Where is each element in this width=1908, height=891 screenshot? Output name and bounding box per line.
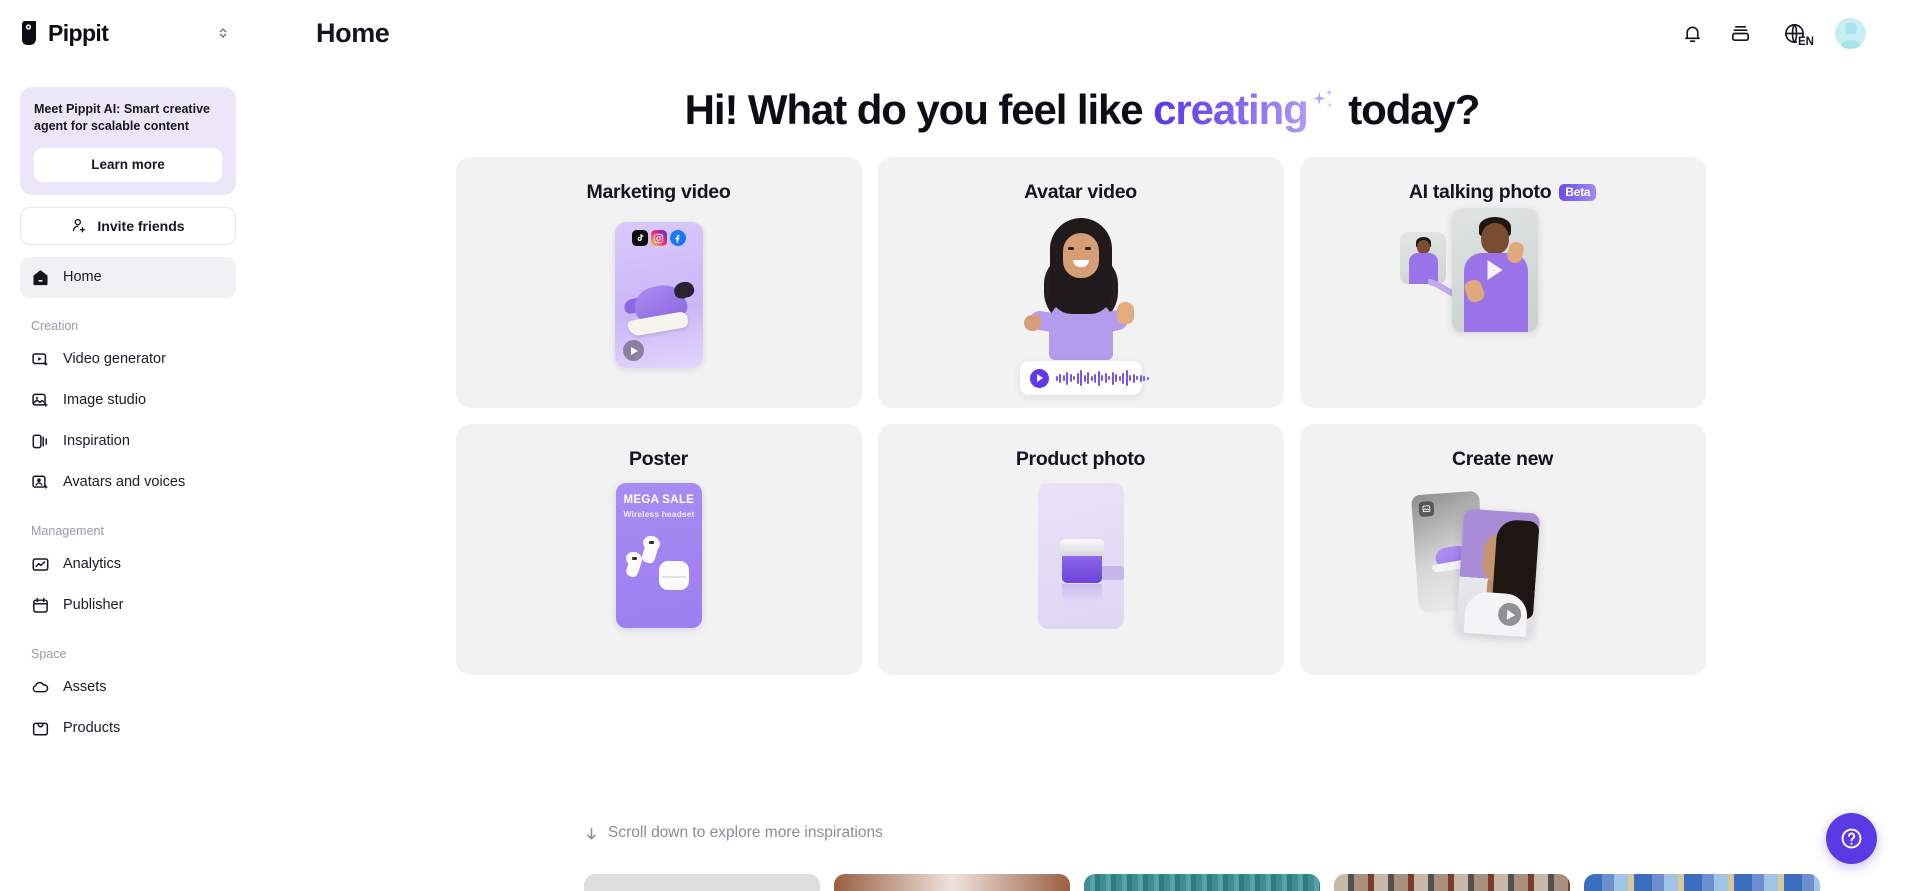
result-video	[1452, 208, 1538, 332]
sidebar-nav: Home Creation Video generator	[20, 257, 236, 749]
presenter-image	[1022, 214, 1140, 364]
product-photo-art	[878, 471, 1284, 675]
card-ai-talking-photo[interactable]: AI talking photo Beta	[1300, 157, 1706, 408]
card-product-photo[interactable]: Product photo	[878, 424, 1284, 675]
card-title-label: Create new	[1452, 448, 1553, 471]
product-mock	[1038, 483, 1124, 629]
sidebar-item-label: Video generator	[63, 351, 166, 367]
cosmetic-jar	[1062, 555, 1102, 583]
nav-group-management: Management	[20, 524, 236, 538]
card-title: Poster	[629, 448, 688, 471]
sparkle-icon	[1312, 86, 1338, 124]
card-poster[interactable]: Poster MEGA SALE Wireless headset	[456, 424, 862, 675]
analytics-chart-icon	[31, 555, 50, 574]
sidebar-item-inspiration[interactable]: Inspiration	[20, 421, 236, 462]
sidebar-item-avatars-and-voices[interactable]: Avatars and voices	[20, 462, 236, 503]
instagram-icon	[651, 230, 667, 246]
pippit-logo-icon	[20, 21, 41, 46]
sidebar: Pippit Meet Pippit AI: Smart creative ag…	[0, 0, 256, 891]
home-icon	[31, 268, 50, 287]
scroll-hint-label: Scroll down to explore more inspirations	[608, 824, 883, 842]
bag-icon	[31, 719, 50, 738]
language-selector[interactable]: EN	[1775, 20, 1813, 46]
front-photo	[1455, 509, 1539, 638]
poster-art: MEGA SALE Wireless headset	[456, 471, 862, 675]
promo-card: Meet Pippit AI: Smart creative agent for…	[20, 87, 236, 195]
user-plus-icon	[71, 217, 88, 234]
sidebar-item-products[interactable]: Products	[20, 708, 236, 749]
help-button[interactable]	[1826, 813, 1877, 864]
main-content: Home	[256, 0, 1908, 891]
avatar[interactable]	[1835, 18, 1866, 49]
social-icons	[632, 230, 686, 246]
image-sparkle-icon	[31, 391, 50, 410]
source-photo	[1400, 232, 1446, 284]
card-stack-icon[interactable]	[1727, 20, 1753, 46]
sidebar-item-analytics[interactable]: Analytics	[20, 544, 236, 585]
card-title: Create new	[1452, 448, 1553, 471]
marketing-video-art	[456, 204, 862, 408]
promo-text: Meet Pippit AI: Smart creative agent for…	[34, 101, 222, 135]
image-icon	[1418, 501, 1434, 517]
poster-heading: MEGA SALE	[624, 494, 695, 506]
card-title: Marketing video	[587, 181, 731, 204]
sidebar-item-assets[interactable]: Assets	[20, 667, 236, 708]
sidebar-item-label: Publisher	[63, 597, 123, 613]
sidebar-item-publisher[interactable]: Publisher	[20, 585, 236, 626]
cloud-icon	[31, 678, 50, 697]
page-title: Home	[316, 18, 389, 49]
sidebar-item-label: Avatars and voices	[63, 474, 185, 490]
sidebar-item-image-studio[interactable]: Image studio	[20, 380, 236, 421]
avatar-sparkle-icon	[31, 473, 50, 492]
card-title-label: Marketing video	[587, 181, 731, 204]
poster-subheading: Wireless headset	[624, 509, 695, 519]
ai-talking-photo-art	[1300, 204, 1706, 408]
avatar-video-art	[878, 204, 1284, 408]
phone-mock	[615, 222, 703, 368]
audio-player[interactable]	[1020, 361, 1142, 395]
video-sparkle-icon	[31, 350, 50, 369]
card-title-label: Avatar video	[1024, 181, 1137, 204]
card-create-new[interactable]: Create new	[1300, 424, 1706, 675]
sneaker-image	[622, 280, 696, 338]
create-options-grid: Marketing video	[456, 157, 1709, 675]
nav-group-space: Space	[20, 647, 236, 661]
calendar-icon	[31, 596, 50, 615]
thumbnail-item[interactable]	[834, 874, 1070, 891]
chevron-up-down-icon[interactable]	[210, 20, 236, 46]
facebook-icon	[670, 230, 686, 246]
thumbnail-item[interactable]	[1584, 874, 1820, 891]
inspiration-thumbnails	[584, 874, 1820, 891]
play-icon	[623, 340, 644, 361]
card-title-label: Product photo	[1016, 448, 1145, 471]
sidebar-item-label: Image studio	[63, 392, 146, 408]
card-title: Product photo	[1016, 448, 1145, 471]
scroll-hint[interactable]: Scroll down to explore more inspirations	[584, 824, 883, 842]
inspiration-panels-icon	[31, 432, 50, 451]
invite-friends-label: Invite friends	[97, 218, 184, 234]
nav-group-creation: Creation	[20, 319, 236, 333]
thumbnail-item[interactable]	[584, 874, 820, 891]
sidebar-item-home[interactable]: Home	[20, 257, 236, 298]
brand[interactable]: Pippit	[20, 20, 108, 47]
language-label: EN	[1797, 37, 1814, 49]
headline-prefix: Hi! What do you feel like	[685, 86, 1153, 133]
learn-more-button[interactable]: Learn more	[34, 148, 222, 182]
arrow-down-icon	[584, 826, 599, 841]
create-new-art	[1300, 471, 1706, 675]
card-avatar-video[interactable]: Avatar video	[878, 157, 1284, 408]
tiktok-icon	[632, 230, 648, 246]
invite-friends-button[interactable]: Invite friends	[20, 207, 236, 245]
card-title-label: AI talking photo	[1409, 181, 1552, 204]
sidebar-item-video-generator[interactable]: Video generator	[20, 339, 236, 380]
brand-row: Pippit	[20, 0, 236, 66]
headline-suffix: today?	[1338, 86, 1480, 133]
topbar: Home	[256, 0, 1908, 66]
card-marketing-video[interactable]: Marketing video	[456, 157, 862, 408]
thumbnail-item[interactable]	[1334, 874, 1570, 891]
bell-icon[interactable]	[1679, 20, 1705, 46]
waveform	[1056, 369, 1149, 387]
sidebar-item-label: Home	[63, 269, 102, 285]
play-icon[interactable]	[1030, 369, 1049, 388]
brand-name: Pippit	[48, 20, 108, 47]
sidebar-item-label: Products	[63, 720, 120, 736]
page-headline: Hi! What do you feel like creating today…	[256, 86, 1908, 134]
headline-highlight: creating	[1153, 86, 1312, 133]
poster-mock: MEGA SALE Wireless headset	[616, 483, 702, 628]
card-title-label: Poster	[629, 448, 688, 471]
thumbnail-item[interactable]	[1084, 874, 1320, 891]
app-root: Pippit Meet Pippit AI: Smart creative ag…	[0, 0, 1908, 891]
card-title: AI talking photo Beta	[1409, 181, 1596, 204]
card-title: Avatar video	[1024, 181, 1137, 204]
topbar-actions: EN	[1679, 18, 1866, 49]
play-icon	[1487, 260, 1502, 280]
sidebar-item-label: Inspiration	[63, 433, 130, 449]
question-circle-icon	[1839, 826, 1864, 851]
sidebar-item-label: Analytics	[63, 556, 121, 572]
status-badge: Beta	[1559, 184, 1596, 201]
sidebar-item-label: Assets	[63, 679, 107, 695]
